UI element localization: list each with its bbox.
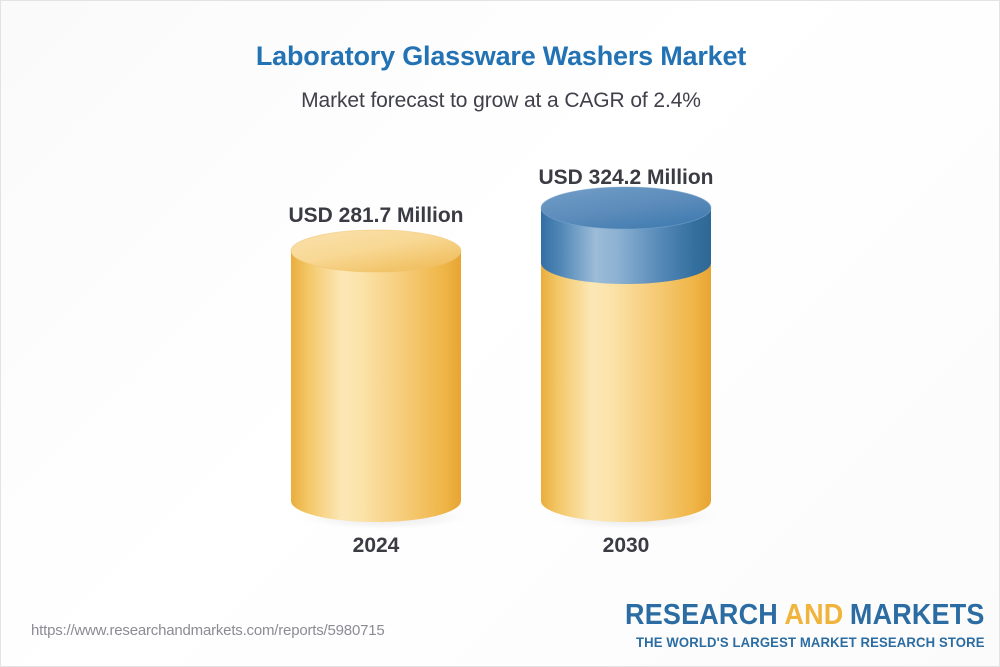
- category-label-2030: 2030: [476, 534, 776, 558]
- brand-tagline: THE WORLD'S LARGEST MARKET RESEARCH STOR…: [610, 636, 985, 650]
- brand-word-research: RESEARCH: [625, 599, 778, 631]
- source-url[interactable]: https://www.researchandmarkets.com/repor…: [31, 622, 385, 639]
- brand-word-and: AND: [785, 599, 844, 631]
- cylinder-2024: [276, 229, 476, 534]
- chart-canvas: Laboratory Glassware Washers Market Mark…: [0, 0, 1000, 667]
- brand-logo[interactable]: RESEARCHANDMARKETS THE WORLD'S LARGEST M…: [598, 601, 985, 650]
- brand-word-markets: MARKETS: [850, 599, 985, 631]
- value-label-2024: USD 281.7 Million: [226, 204, 526, 228]
- brand-wordmark: RESEARCHANDMARKETS: [625, 601, 985, 630]
- cylinder-2030: [526, 186, 726, 534]
- plot-area: USD 281.7 Million: [1, 1, 1000, 601]
